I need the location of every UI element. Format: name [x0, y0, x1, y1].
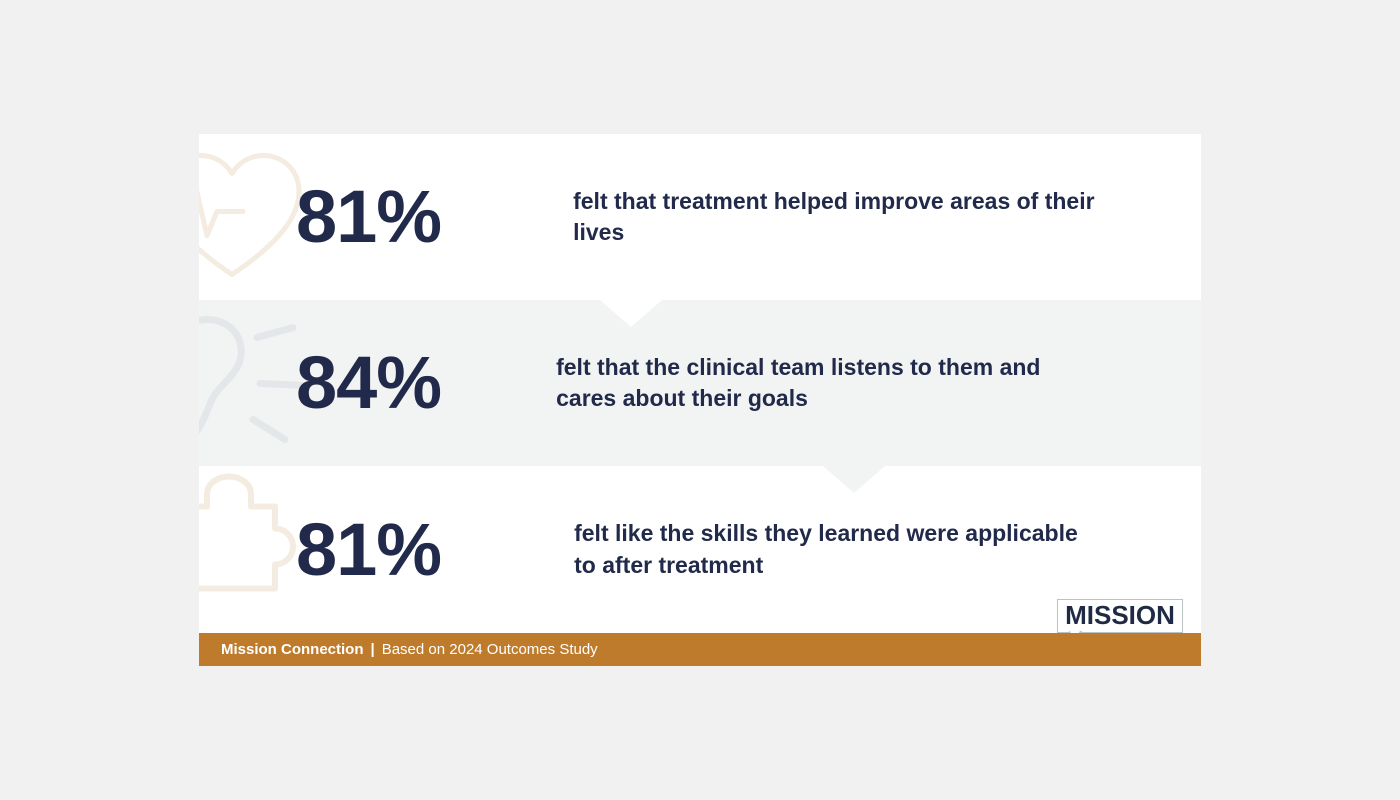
stat-description-3: felt like the skills they learned were a…: [574, 518, 1104, 580]
stat-percent-3: 81%: [296, 513, 441, 587]
logo-wordmark: MISSION: [1065, 602, 1175, 629]
panel-content-3: 81% felt like the skills they learned we…: [199, 466, 1201, 633]
logo-box: MISSION: [1057, 599, 1183, 633]
panel-content-2: 84% felt that the clinical team listens …: [199, 300, 1201, 466]
stat-panel-2: 84% felt that the clinical team listens …: [199, 300, 1201, 466]
stat-percent-2: 84%: [296, 346, 441, 420]
footer-source: Based on 2024 Outcomes Study: [382, 642, 598, 657]
footer-attribution-bar: Mission Connection | Based on 2024 Outco…: [199, 633, 1201, 666]
stat-panel-1: 81% felt that treatment helped improve a…: [199, 134, 1201, 300]
stat-percent-1: 81%: [296, 180, 441, 254]
panel-connector-notch-1: [600, 300, 662, 327]
footer-divider: |: [371, 642, 375, 657]
stat-description-1: felt that treatment helped improve areas…: [573, 186, 1103, 248]
stat-description-2: felt that the clinical team listens to t…: [556, 352, 1086, 414]
panel-content-1: 81% felt that treatment helped improve a…: [199, 134, 1201, 300]
panel-connector-notch-2: [823, 466, 885, 493]
footer-brand: Mission Connection: [221, 642, 364, 657]
stat-panel-3: 81% felt like the skills they learned we…: [199, 466, 1201, 633]
infographic-card: 81% felt that treatment helped improve a…: [199, 134, 1201, 666]
